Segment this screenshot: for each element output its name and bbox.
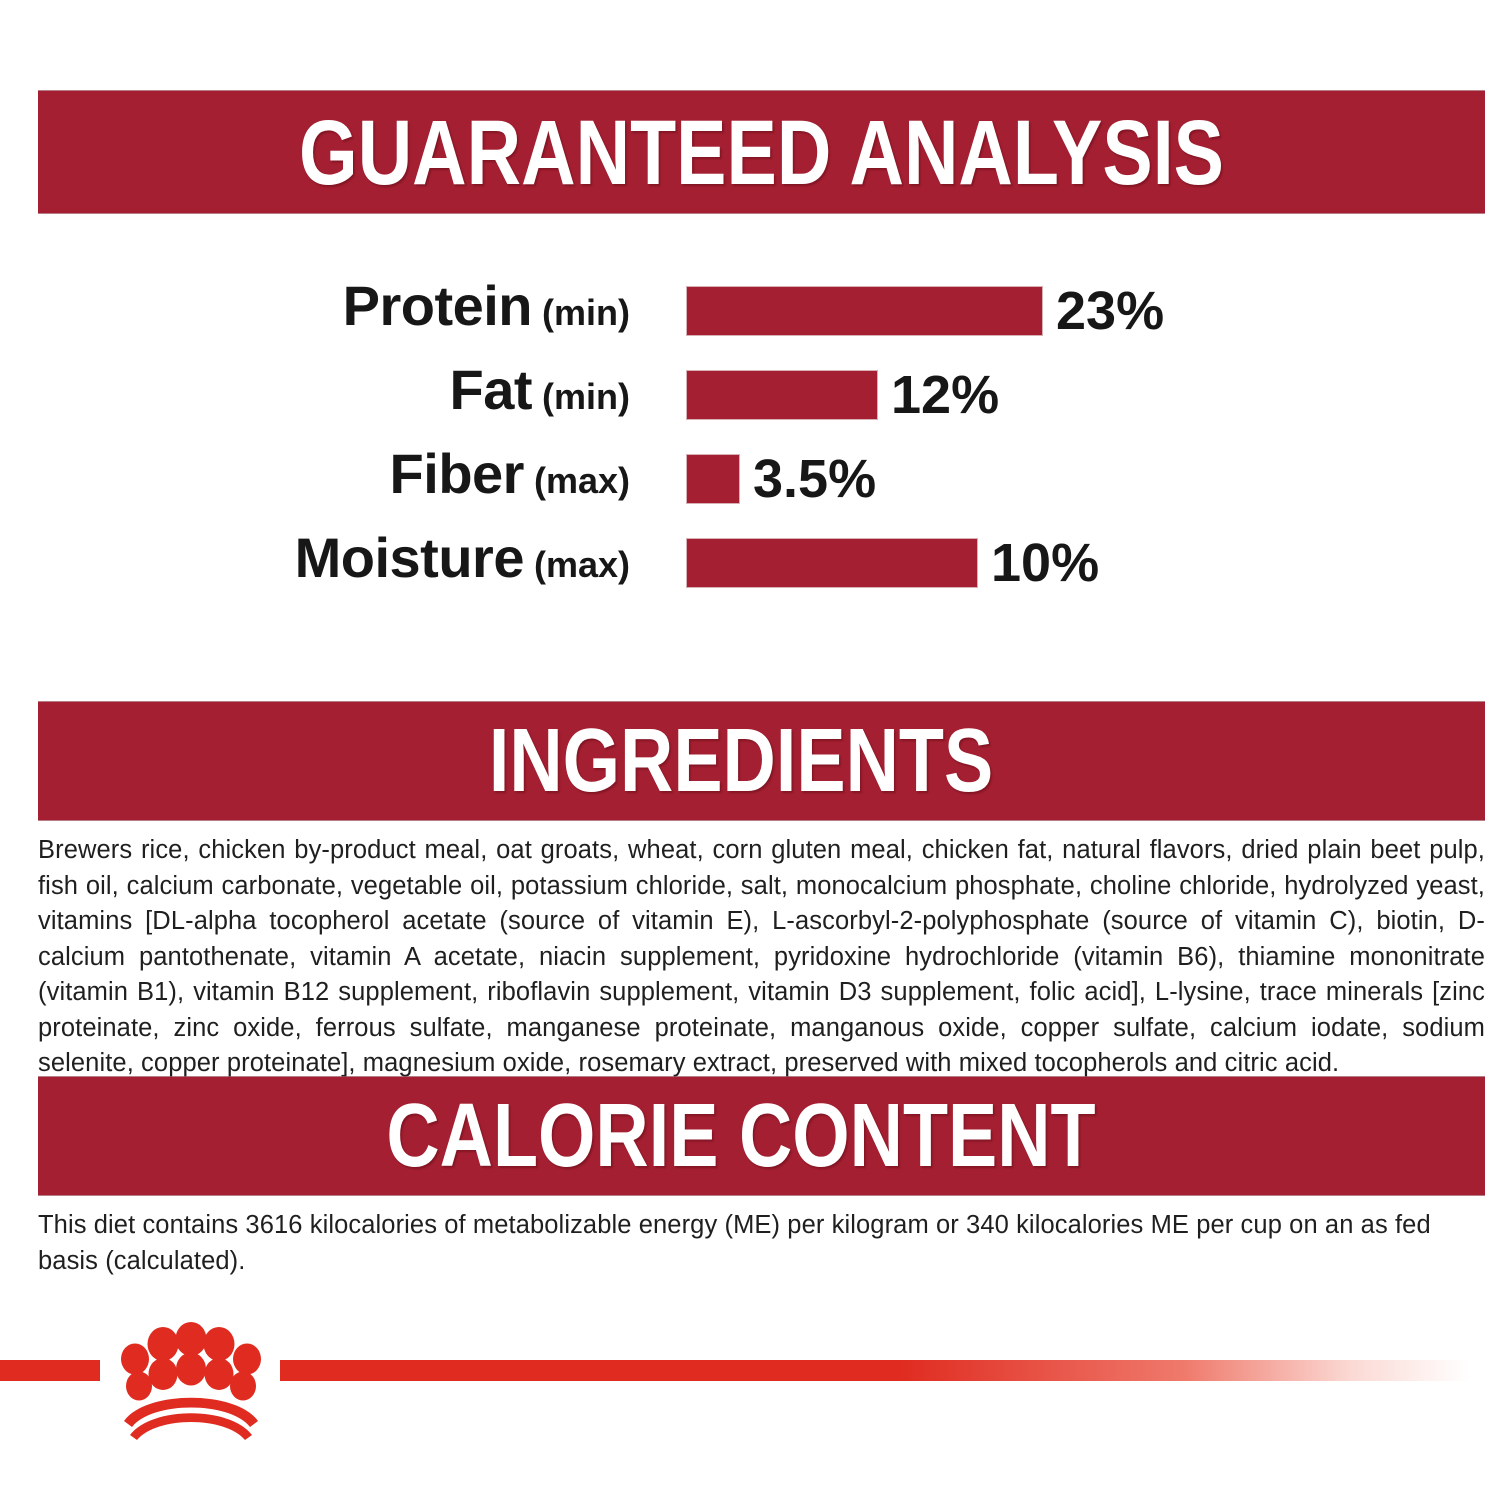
guaranteed-analysis-heading: GUARANTEED ANALYSIS — [168, 105, 1355, 201]
nutrient-bar-group: 3.5% — [687, 455, 876, 503]
royal-canin-crown-icon — [106, 1322, 276, 1442]
calorie-content-heading: CALORIE CONTENT — [168, 1089, 1355, 1183]
guaranteed-analysis-row: Fiber(max)3.5% — [0, 440, 1500, 524]
guaranteed-analysis-banner: GUARANTEED ANALYSIS — [38, 91, 1485, 213]
nutrient-qualifier: (min) — [542, 363, 630, 431]
ingredients-heading: INGREDIENTS — [168, 714, 1355, 808]
nutrient-label: Moisture(max) — [0, 524, 630, 607]
nutrient-value: 10% — [991, 539, 1099, 587]
nutrient-value: 3.5% — [753, 455, 876, 503]
nutrient-label: Fat(min) — [0, 356, 630, 439]
footer-rule-left — [0, 1360, 100, 1381]
calorie-content-text: This diet contains 3616 kilocalories of … — [38, 1208, 1485, 1279]
footer-brand-bar — [0, 1330, 1500, 1450]
nutrient-bar-group: 23% — [687, 287, 1164, 335]
nutrient-name: Protein — [343, 272, 532, 340]
nutrient-value: 12% — [891, 371, 999, 419]
nutrient-bar — [687, 287, 1042, 335]
guaranteed-analysis-row: Protein(min)23% — [0, 272, 1500, 356]
nutrient-qualifier: (min) — [542, 279, 630, 347]
ingredients-banner: INGREDIENTS — [38, 702, 1485, 820]
nutrient-bar — [687, 371, 877, 419]
nutrient-name: Moisture — [295, 524, 524, 592]
guaranteed-analysis-chart: Protein(min)23%Fat(min)12%Fiber(max)3.5%… — [0, 272, 1500, 608]
nutrient-value: 23% — [1056, 287, 1164, 335]
nutrient-name: Fiber — [390, 440, 524, 508]
calorie-content-banner: CALORIE CONTENT — [38, 1077, 1485, 1195]
footer-rule-right — [280, 1360, 1470, 1381]
nutrient-qualifier: (max) — [534, 447, 630, 515]
nutrient-bar-group: 12% — [687, 371, 999, 419]
nutrient-bar — [687, 539, 977, 587]
nutrient-label: Fiber(max) — [0, 440, 630, 523]
nutrient-name: Fat — [450, 356, 533, 424]
nutrient-bar — [687, 455, 739, 503]
guaranteed-analysis-row: Fat(min)12% — [0, 356, 1500, 440]
nutrient-bar-group: 10% — [687, 539, 1099, 587]
ingredients-text: Brewers rice, chicken by-product meal, o… — [38, 833, 1485, 1082]
nutrient-qualifier: (max) — [534, 531, 630, 599]
guaranteed-analysis-row: Moisture(max)10% — [0, 524, 1500, 608]
nutrient-label: Protein(min) — [0, 272, 630, 355]
nutrition-label-page: GUARANTEED ANALYSIS Protein(min)23%Fat(m… — [0, 0, 1500, 1500]
